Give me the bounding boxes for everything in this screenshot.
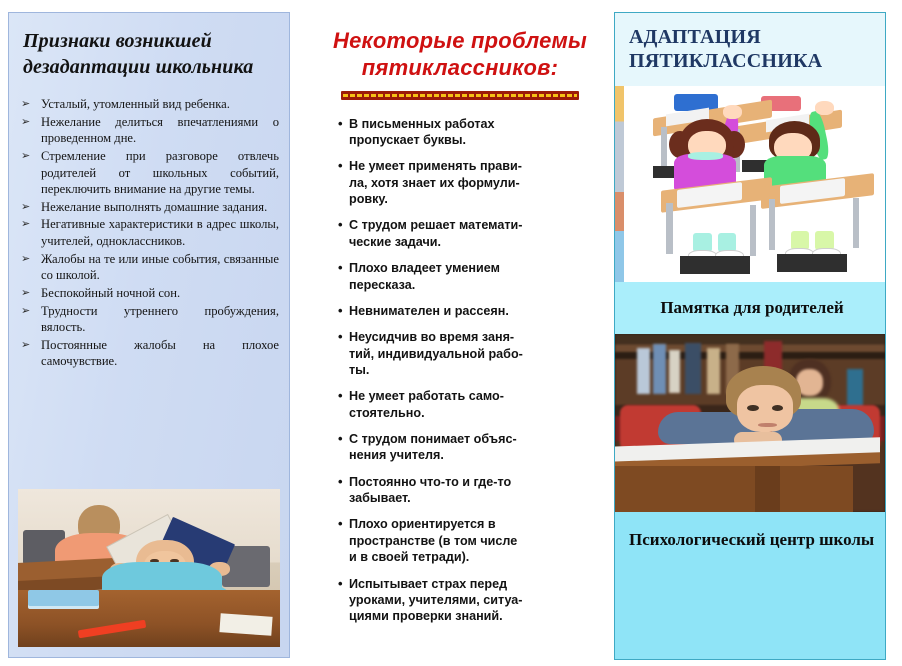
dot-bullet-icon: • — [338, 303, 349, 319]
list-item: • Неусидчив во время заня- тий, индивиду… — [338, 329, 594, 378]
list-item-label: Жалобы на те или иные события, связанные… — [41, 251, 279, 284]
middle-panel-title: Некоторые проблемы пятиклассников: — [320, 14, 600, 82]
list-item: • С трудом понимает объяс- нения учителя… — [338, 431, 594, 464]
list-item: ➢ Трудности утреннего пробуждения, вялос… — [21, 303, 279, 336]
list-item-label: Плохо ориентируется в пространстве (в то… — [349, 516, 594, 565]
right-panel-subtitle-center: Психологический центр школы — [615, 512, 885, 659]
boy-eye — [747, 405, 758, 411]
list-item: ➢ Нежелание делиться впечатлениями о про… — [21, 114, 279, 147]
right-panel-photo — [615, 334, 885, 512]
middle-panel-list: • В письменных работах пропускает буквы.… — [320, 116, 600, 625]
list-item-label: С трудом понимает объяс- нения учителя. — [349, 431, 594, 464]
list-item-label: Усталый, утомленный вид ребенка. — [41, 96, 279, 113]
book-spine — [637, 348, 651, 394]
brochure-page: Признаки возникшей дезадаптации школьник… — [0, 0, 902, 666]
list-item-label: Нежелание выполнять домашние задания. — [41, 199, 279, 216]
desk-leg — [755, 466, 779, 512]
list-item: • Плохо владеет умением пересказа. — [338, 260, 594, 293]
list-item: • Постоянно что-то и где-то забывает. — [338, 474, 594, 507]
list-item-label: Нежелание делиться впечатлениями о прове… — [41, 114, 279, 147]
dot-bullet-icon: • — [338, 217, 349, 233]
sock-shape — [791, 231, 810, 251]
list-item: • С трудом решает математи- ческие задач… — [338, 217, 594, 250]
list-item: ➢ Постоянные жалобы на плохое самочувств… — [21, 337, 279, 370]
dot-bullet-icon: • — [338, 388, 349, 404]
list-item: ➢ Стремление при разговоре отвлечь родит… — [21, 148, 279, 198]
right-panel: АДАПТАЦИЯ ПЯТИКЛАССНИКА — [614, 12, 886, 660]
left-panel-title: Признаки возникшей дезадаптации школьник… — [9, 13, 289, 80]
desk-leg — [666, 203, 672, 254]
dot-bullet-icon: • — [338, 158, 349, 174]
desk-leg — [853, 198, 859, 249]
desk-front — [615, 466, 853, 512]
notebook-on-desk — [28, 590, 99, 606]
dot-bullet-icon: • — [338, 260, 349, 276]
classroom-clipart — [615, 86, 885, 282]
arrow-bullet-icon: ➢ — [21, 251, 41, 267]
list-item: ➢ Нежелание выполнять домашние задания. — [21, 199, 279, 216]
list-item: • В письменных работах пропускает буквы. — [338, 116, 594, 149]
list-item-label: Беспокойный ночной сон. — [41, 285, 279, 302]
list-item-label: Постоянно что-то и где-то забывает. — [349, 474, 594, 507]
list-item-label: Плохо владеет умением пересказа. — [349, 260, 594, 293]
dot-bullet-icon: • — [338, 329, 349, 345]
list-item: ➢ Беспокойный ночной сон. — [21, 285, 279, 302]
list-item: ➢ Жалобы на те или иные события, связанн… — [21, 251, 279, 284]
list-item-label: Трудности утреннего пробуждения, вялость… — [41, 303, 279, 336]
dot-bullet-icon: • — [338, 474, 349, 490]
list-item: • Испытывает страх перед уроками, учител… — [338, 576, 594, 625]
list-item: • Плохо ориентируется в пространстве (в … — [338, 516, 594, 565]
list-item-label: Не умеет применять прави- ла, хотя знает… — [349, 158, 594, 207]
list-item: ➢ Негативные характеристики в адрес школ… — [21, 216, 279, 249]
list-item-label: Не умеет работать само- стоятельно. — [349, 388, 594, 421]
boy-hand — [815, 101, 834, 115]
right-panel-title-box: АДАПТАЦИЯ ПЯТИКЛАССНИКА — [615, 13, 885, 86]
desk-leg — [769, 199, 775, 250]
decorative-divider — [341, 91, 579, 100]
desk-shadow — [777, 254, 847, 272]
sock-shape — [815, 231, 834, 251]
arrow-bullet-icon: ➢ — [21, 337, 41, 353]
list-item-label: Испытывает страх перед уроками, учителям… — [349, 576, 594, 625]
desk-shadow — [680, 256, 750, 274]
desk-leg — [661, 127, 667, 170]
left-panel: Признаки возникшей дезадаптации школьник… — [8, 12, 290, 658]
list-item-label: С трудом решает математи- ческие задачи. — [349, 217, 594, 250]
book-spine — [707, 348, 721, 394]
dot-bullet-icon: • — [338, 431, 349, 447]
desk-leg — [750, 205, 756, 256]
dot-bullet-icon: • — [338, 576, 349, 592]
arrow-bullet-icon: ➢ — [21, 114, 41, 130]
list-item-label: Стремление при разговоре отвлечь родител… — [41, 148, 279, 198]
list-item-label: Постоянные жалобы на плохое самочувствие… — [41, 337, 279, 370]
left-panel-list: ➢ Усталый, утомленный вид ребенка. ➢ Неж… — [9, 96, 289, 370]
arrow-bullet-icon: ➢ — [21, 285, 41, 301]
book-spine — [653, 344, 667, 394]
arrow-bullet-icon: ➢ — [21, 96, 41, 112]
boy-eye — [772, 405, 783, 411]
book-spine — [685, 343, 701, 395]
list-item: ➢ Усталый, утомленный вид ребенка. — [21, 96, 279, 113]
right-panel-subtitle-parents: Памятка для родителей — [615, 282, 885, 334]
list-item: • Не умеет применять прави- ла, хотя зна… — [338, 158, 594, 207]
list-item: • Невнимателен и рассеян. — [338, 303, 594, 319]
list-item-label: Невнимателен и рассеян. — [349, 303, 594, 319]
book-spine — [669, 350, 680, 393]
list-item-label: Неусидчив во время заня- тий, индивидуал… — [349, 329, 594, 378]
left-panel-photo — [18, 489, 280, 647]
dot-bullet-icon: • — [338, 116, 349, 132]
girl-hand — [723, 105, 742, 119]
list-item-label: В письменных работах пропускает буквы. — [349, 116, 594, 149]
arrow-bullet-icon: ➢ — [21, 216, 41, 232]
arrow-bullet-icon: ➢ — [21, 199, 41, 215]
side-strip-decoration — [615, 86, 624, 282]
list-item: • Не умеет работать само- стоятельно. — [338, 388, 594, 421]
book-spine — [847, 369, 863, 408]
dot-bullet-icon: • — [338, 516, 349, 532]
list-item-label: Негативные характеристики в адрес школы,… — [41, 216, 279, 249]
middle-panel: Некоторые проблемы пятиклассников: • В п… — [320, 14, 600, 658]
girl-collar — [688, 152, 723, 160]
right-panel-title: АДАПТАЦИЯ ПЯТИКЛАССНИКА — [629, 25, 875, 74]
arrow-bullet-icon: ➢ — [21, 148, 41, 164]
arrow-bullet-icon: ➢ — [21, 303, 41, 319]
